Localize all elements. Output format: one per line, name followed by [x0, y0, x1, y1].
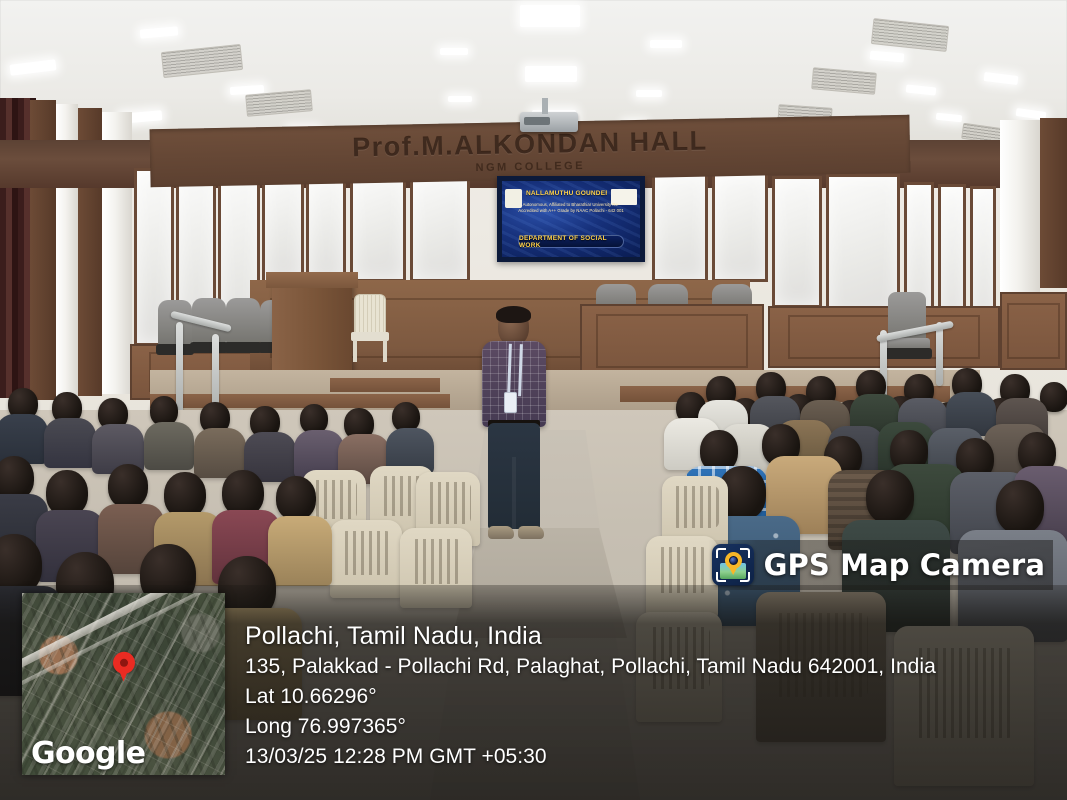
gps-map-camera-label: GPS Map Camera	[764, 548, 1045, 582]
banner-department: DEPARTMENT OF SOCIAL WORK	[518, 235, 624, 248]
location-latitude: Lat 10.66296°	[245, 682, 1053, 712]
stage-plastic-chair	[350, 294, 390, 362]
map-pin-icon	[113, 652, 135, 682]
ceiling-projector-icon	[520, 112, 578, 132]
banner-subtitle: Autonomous, Affiliated to Bharathiar Uni…	[518, 202, 624, 214]
location-place: Pollachi, Tamil Nadu, India	[245, 620, 1053, 652]
location-address: 135, Palakkad - Pollachi Rd, Palaghat, P…	[245, 652, 1053, 682]
hall-sign-line2: NGM COLLEGE	[475, 160, 585, 174]
gps-map-camera-watermark: GPS Map Camera	[708, 540, 1053, 590]
id-badge	[504, 392, 517, 413]
podium	[272, 282, 352, 378]
location-info-block: Pollachi, Tamil Nadu, India 135, Palakka…	[245, 620, 1053, 772]
gps-map-camera-photo: Prof.M.ALKONDAN HALL NGM COLLEGE NALLAMU…	[0, 0, 1067, 800]
event-banner: NALLAMUTHU GOUNDER MAHALINGAM COLLEGE Au…	[502, 181, 640, 257]
gps-map-camera-logo-icon	[712, 544, 754, 586]
speaker-person	[470, 308, 565, 553]
google-watermark: Google	[31, 739, 145, 769]
location-longitude: Long 76.997365°	[245, 712, 1053, 742]
projection-screen: NALLAMUTHU GOUNDER MAHALINGAM COLLEGE Au…	[497, 176, 645, 262]
location-timestamp: 13/03/25 12:28 PM GMT +05:30	[245, 742, 1053, 772]
banner-title: NALLAMUTHU GOUNDER MAHALINGAM COLLEGE	[526, 190, 607, 198]
map-thumbnail[interactable]: Google	[22, 593, 225, 775]
